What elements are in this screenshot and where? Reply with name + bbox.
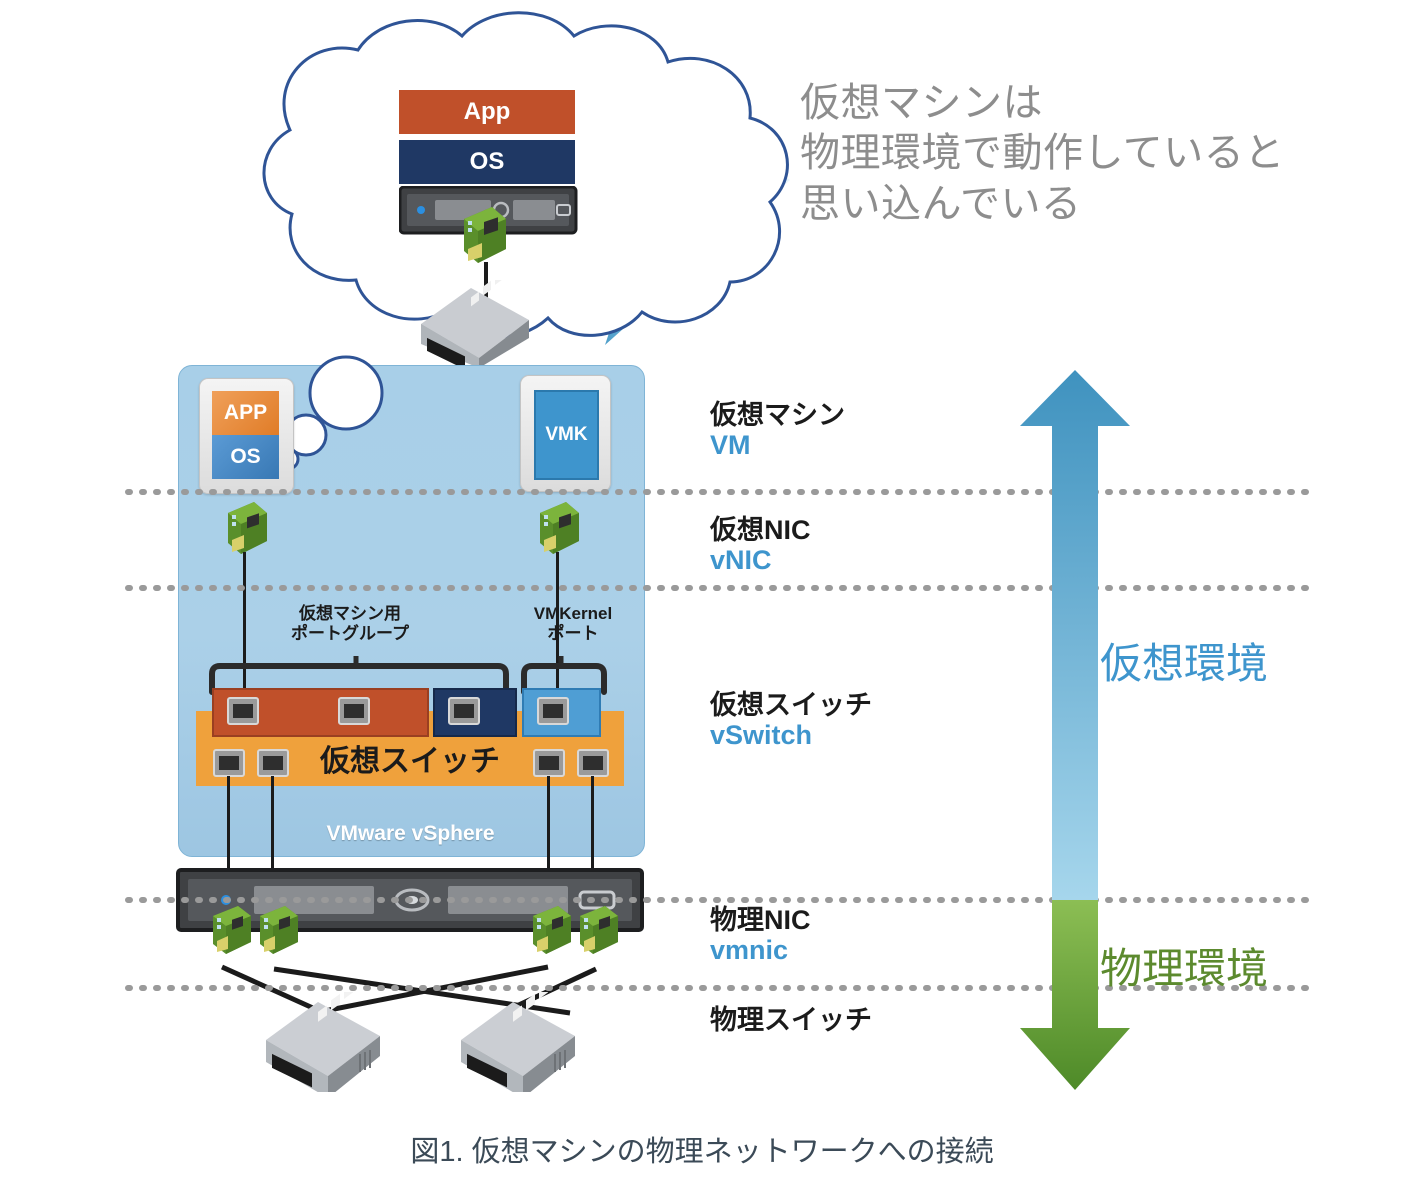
legend-vswitch-en: vSwitch [710,720,1000,750]
figure-caption: 図1. 仮想マシンの物理ネットワークへの接続 [0,1128,1404,1170]
divider-lines [0,0,1404,1188]
legend-vm: 仮想マシン VM [710,400,1000,460]
legend-vnic: 仮想NIC vNIC [710,515,1000,575]
physical-env-label: 物理環境 [1100,935,1268,996]
legend-vswitch-jp: 仮想スイッチ [710,690,1000,720]
legend-physical-switch: 物理スイッチ [710,1005,1000,1035]
legend-vnic-en: vNIC [710,545,1000,575]
legend-vm-jp: 仮想マシン [710,400,1000,430]
legend-vmnic: 物理NIC vmnic [710,905,1000,965]
legend-vmnic-jp: 物理NIC [710,905,1000,935]
legend-vswitch: 仮想スイッチ vSwitch [710,690,1000,750]
legend-pswitch-jp: 物理スイッチ [710,1005,1000,1035]
legend-vm-en: VM [710,430,1000,460]
virtual-env-label: 仮想環境 [1100,630,1268,691]
legend-vnic-jp: 仮想NIC [710,515,1000,545]
legend-vmnic-en: vmnic [710,935,1000,965]
